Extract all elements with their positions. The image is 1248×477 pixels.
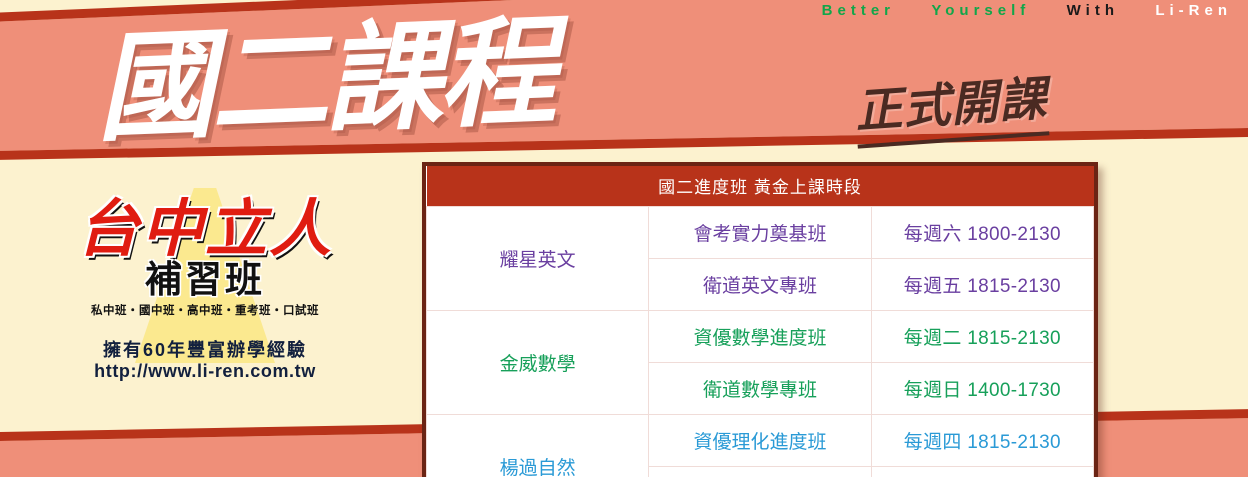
course-time-cell: 每週二 1815-2130	[871, 311, 1093, 363]
subject-cell: 楊過自然	[427, 415, 649, 477]
promo-banner: Better Yourself With Li-Ren 國二課程 正式開課 台中…	[0, 0, 1248, 477]
subject-cell: 金威數學	[427, 311, 649, 415]
schedule-header-row: 國二進度班 黃金上課時段	[427, 166, 1094, 207]
table-row: 耀星英文會考實力奠基班每週六 1800-2130	[427, 207, 1094, 259]
course-name-cell: 衛道數學專班	[649, 363, 871, 415]
subject-cell: 耀星英文	[427, 207, 649, 311]
logo-type: 補習班	[40, 259, 370, 300]
course-name-cell: 衛道英文專班	[649, 259, 871, 311]
tagline-word-with: With	[1067, 2, 1119, 19]
table-row: 金威數學資優數學進度班每週二 1815-2130	[427, 311, 1094, 363]
course-time-cell: 每週日 1400-1730	[871, 363, 1093, 415]
logo-name: 台中立人	[40, 196, 370, 263]
tagline-word-liren: Li-Ren	[1155, 2, 1232, 19]
headline-subtitle: 正式開課	[853, 59, 1050, 148]
course-time-cell: 每週六 1800-2130	[871, 207, 1093, 259]
schedule-table-head: 國二進度班 黃金上課時段	[427, 166, 1094, 207]
tagline-word-yourself: Yourself	[931, 2, 1030, 19]
logo-experience-text: 擁有60年豐富辦學經驗	[40, 339, 370, 362]
course-name-cell: 資優數學進度班	[649, 311, 871, 363]
logo-class-tags: 私中班・國中班・高中班・重考班・口試班	[40, 302, 370, 318]
course-name-cell: 資優理化進度班	[649, 415, 871, 467]
page-title: 國二課程	[94, 7, 555, 152]
course-time-cell: 每週日 0900-1230	[871, 467, 1093, 477]
course-name-cell: 衛道自然專班	[649, 467, 871, 477]
schedule-table: 國二進度班 黃金上課時段 耀星英文會考實力奠基班每週六 1800-2130衛道英…	[426, 166, 1094, 477]
brand-tagline: Better Yourself With Li-Ren	[822, 2, 1232, 19]
schedule-header-title: 國二進度班 黃金上課時段	[427, 166, 1094, 207]
table-row: 楊過自然資優理化進度班每週四 1815-2130	[427, 415, 1094, 467]
course-name-cell: 會考實力奠基班	[649, 207, 871, 259]
logo-website-url[interactable]: http://www.li-ren.com.tw	[40, 361, 370, 383]
course-time-cell: 每週五 1815-2130	[871, 259, 1093, 311]
tagline-word-better: Better	[822, 2, 895, 19]
course-time-cell: 每週四 1815-2130	[871, 415, 1093, 467]
schedule-table-container: 國二進度班 黃金上課時段 耀星英文會考實力奠基班每週六 1800-2130衛道英…	[422, 162, 1098, 477]
schedule-table-body: 耀星英文會考實力奠基班每週六 1800-2130衛道英文專班每週五 1815-2…	[427, 207, 1094, 477]
brand-logo: 台中立人 補習班 私中班・國中班・高中班・重考班・口試班 擁有60年豐富辦學經驗…	[40, 196, 370, 383]
